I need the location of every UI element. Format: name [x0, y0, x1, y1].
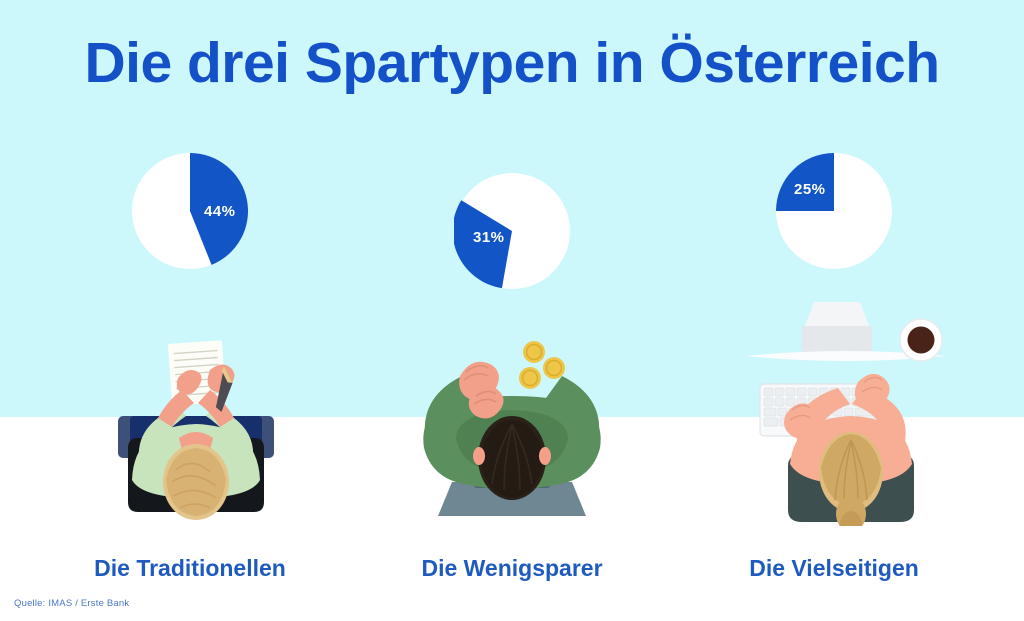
column-label-wenigsparer: Die Wenigsparer — [362, 555, 662, 582]
page-title: Die drei Spartypen in Österreich — [0, 34, 1024, 94]
pie-value-traditionellen: 44% — [204, 203, 236, 220]
pie-chart-wenigsparer — [454, 173, 570, 289]
person-writing-notes-icon — [96, 330, 296, 520]
pie-chart-vielseitigen — [776, 153, 892, 269]
column-label-traditionellen: Die Traditionellen — [40, 555, 340, 582]
infographic-canvas: Die drei Spartypen in Österreich 44% 31%… — [0, 0, 1024, 621]
pie-value-wenigsparer: 31% — [473, 229, 505, 246]
person-tossing-coins-icon — [412, 330, 612, 520]
column-label-vielseitigen: Die Vielseitigen — [684, 555, 984, 582]
pie-value-vielseitigen: 25% — [794, 181, 826, 198]
person-at-computer-icon — [736, 296, 966, 526]
source-note: Quelle: IMAS / Erste Bank — [14, 598, 129, 609]
